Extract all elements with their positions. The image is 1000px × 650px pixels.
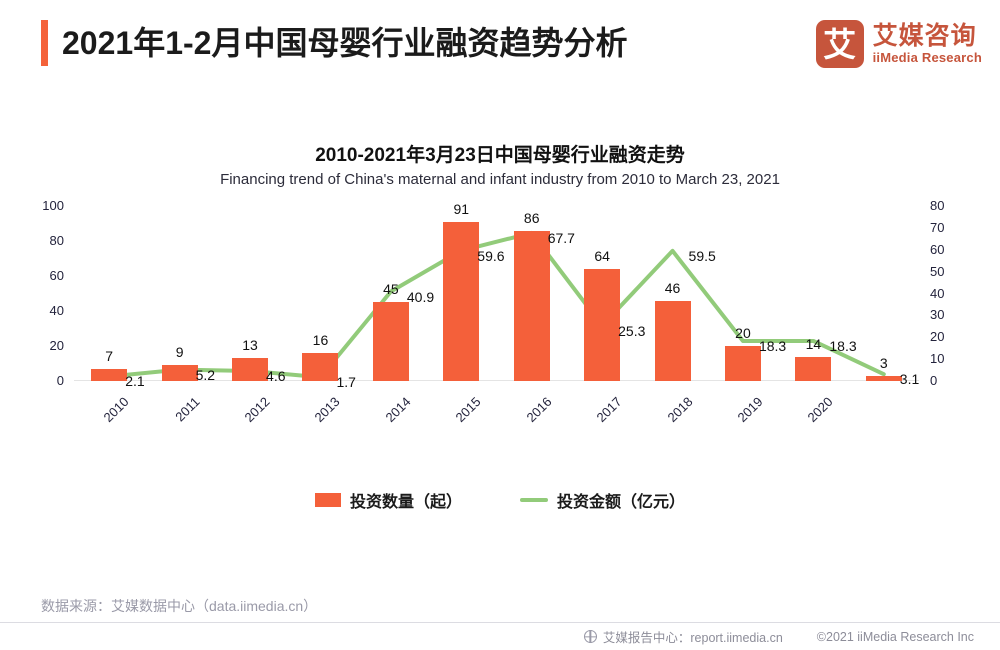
line-value-label: 67.7 (548, 230, 575, 246)
chart-subtitle: Financing trend of China's maternal and … (0, 171, 1000, 188)
bar (795, 357, 831, 382)
legend-item-label: 投资金额（亿元） (557, 488, 685, 512)
title-accent-bar (41, 20, 48, 66)
y-axis-right-tick: 50 (930, 264, 966, 279)
plot-area: 7913164591866446201432.15.24.61.740.959.… (74, 206, 919, 381)
y-axis-left: 020406080100 (28, 206, 64, 381)
bar (725, 346, 761, 381)
line-value-label: 18.3 (759, 338, 786, 354)
logo-text: 艾媒咨询 iiMedia Research (873, 22, 982, 66)
bar-value-label: 9 (150, 344, 210, 360)
x-axis-tick: 2016 (493, 394, 555, 456)
x-axis-tick: 2011 (141, 394, 203, 456)
line-value-label: 4.6 (266, 368, 285, 384)
x-axis-tick: 2013 (282, 394, 344, 456)
y-axis-right-tick: 30 (930, 307, 966, 322)
chart-title: 2010-2021年3月23日中国母婴行业融资走势 (0, 140, 1000, 167)
y-axis-left-tick: 100 (28, 198, 64, 213)
bar-value-label: 64 (572, 248, 632, 264)
bar-value-label: 86 (502, 210, 562, 226)
bar-value-label: 16 (290, 332, 350, 348)
line-value-label: 59.5 (689, 248, 716, 264)
y-axis-left-tick: 0 (28, 373, 64, 388)
y-axis-right-tick: 60 (930, 242, 966, 257)
page-title: 2021年1-2月中国母婴行业融资趋势分析 (62, 20, 627, 66)
report-center-link[interactable]: 艾媒报告中心：report.iimedia.cn (584, 627, 783, 646)
y-axis-left-tick: 40 (28, 303, 64, 318)
y-axis-right-tick: 0 (930, 373, 966, 388)
copyright-text: ©2021 iiMedia Research Inc (817, 630, 974, 644)
report-center-text: 艾媒报告中心：report.iimedia.cn (603, 627, 783, 646)
x-axis: 2010201120122013201420152016201720182019… (74, 386, 919, 436)
chart-legend: 投资数量（起）投资金额（亿元） (0, 488, 1000, 512)
legend-item-label: 投资数量（起） (350, 488, 462, 512)
y-axis-left-tick: 20 (28, 338, 64, 353)
bar (584, 269, 620, 381)
bar (162, 365, 198, 381)
y-axis-left-tick: 80 (28, 233, 64, 248)
x-axis-tick: 2014 (352, 394, 414, 456)
bar (866, 376, 902, 381)
line-value-label: 18.3 (829, 338, 856, 354)
bar (514, 231, 550, 382)
line-value-label: 3.1 (900, 371, 919, 387)
bar (302, 353, 338, 381)
globe-icon (584, 630, 597, 643)
x-axis-tick: 2019 (704, 394, 766, 456)
source-note: 数据来源：艾媒数据中心（data.iimedia.cn） (41, 596, 317, 616)
bar (232, 358, 268, 381)
bar-value-label: 13 (220, 337, 280, 353)
bar-value-label: 3 (854, 355, 914, 371)
y-axis-left-tick: 60 (28, 268, 64, 283)
page-header: 2021年1-2月中国母婴行业融资趋势分析 艾 艾媒咨询 iiMedia Res… (0, 0, 1000, 96)
x-axis-tick: 2012 (211, 394, 273, 456)
y-axis-right-tick: 40 (930, 286, 966, 301)
x-axis-tick: 2010 (70, 394, 132, 456)
logo-name-en: iiMedia Research (873, 50, 982, 66)
x-axis-tick: 2015 (422, 394, 484, 456)
legend-item[interactable]: 投资金额（亿元） (520, 488, 685, 512)
legend-bar-swatch-icon (315, 493, 341, 507)
logo-mark-icon: 艾 (816, 20, 864, 68)
bar (443, 222, 479, 381)
bar (655, 301, 691, 382)
bar-value-label: 46 (643, 280, 703, 296)
legend-line-swatch-icon (520, 498, 548, 502)
line-value-label: 5.2 (196, 367, 215, 383)
brand-logo: 艾 艾媒咨询 iiMedia Research (816, 20, 982, 68)
line-value-label: 59.6 (477, 248, 504, 264)
x-axis-tick: 2020 (774, 394, 836, 456)
bar-value-label: 7 (79, 348, 139, 364)
line-value-label: 25.3 (618, 323, 645, 339)
y-axis-right-tick: 10 (930, 351, 966, 366)
page-footer: 艾媒报告中心：report.iimedia.cn ©2021 iiMedia R… (0, 623, 1000, 650)
legend-item[interactable]: 投资数量（起） (315, 488, 462, 512)
y-axis-right-tick: 70 (930, 220, 966, 235)
bar-value-label: 91 (431, 201, 491, 217)
x-axis-tick: 2018 (634, 394, 696, 456)
line-value-label: 40.9 (407, 289, 434, 305)
logo-name-cn: 艾媒咨询 (873, 22, 982, 50)
bar (91, 369, 127, 381)
x-axis-tick: 2017 (563, 394, 625, 456)
y-axis-right-tick: 20 (930, 329, 966, 344)
y-axis-right-tick: 80 (930, 198, 966, 213)
y-axis-right: 01020304050607080 (930, 206, 970, 381)
bar (373, 302, 409, 381)
chart-page: 2021年1-2月中国母婴行业融资趋势分析 艾 艾媒咨询 iiMedia Res… (0, 0, 1000, 650)
